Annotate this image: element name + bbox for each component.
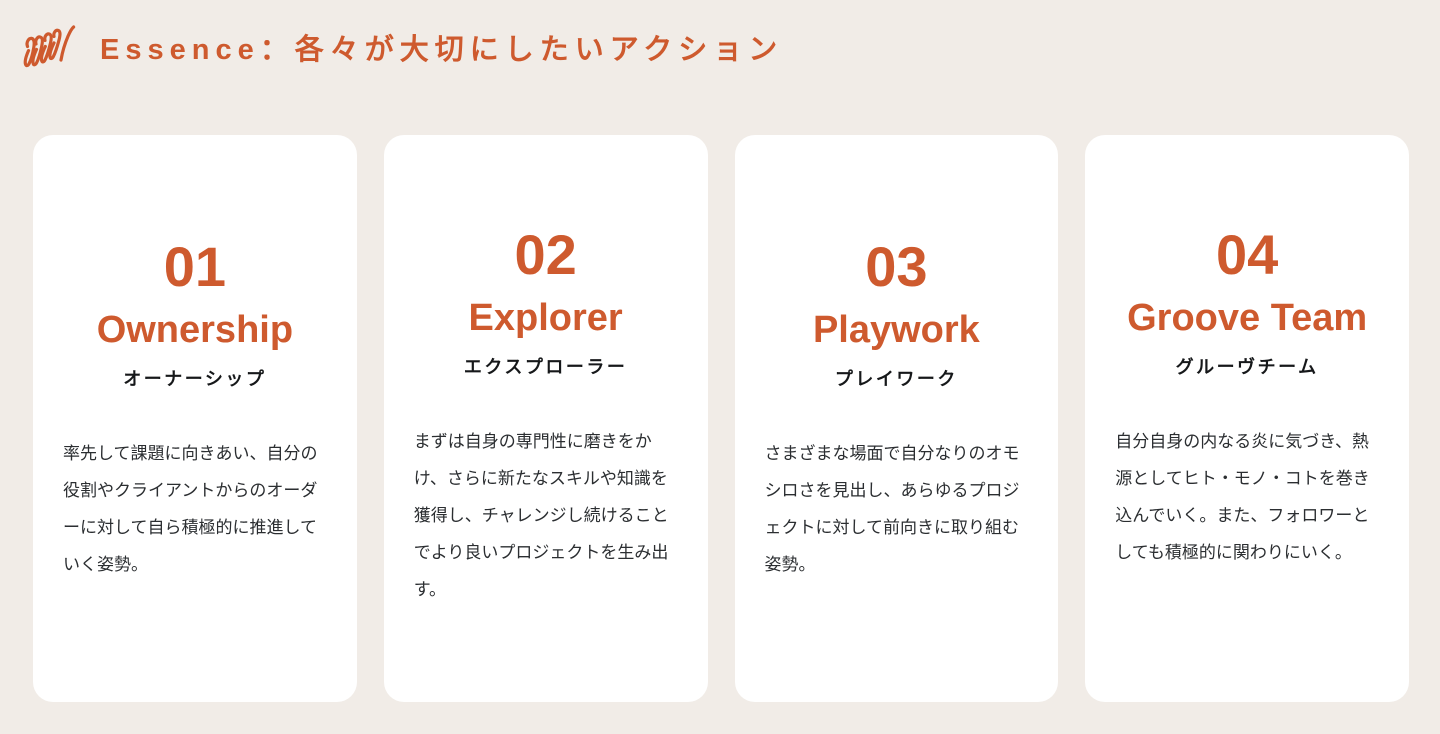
value-card-ownership[interactable]: 01 Ownership オーナーシップ 率先して課題に向きあい、自分の役割やク…	[33, 135, 357, 702]
card-body-text: 率先して課題に向きあい、自分の役割やクライアントからのオーダーに対して自ら積極的…	[61, 435, 329, 583]
essence-values-page: Essence：各々が大切にしたいアクション 01 Ownership オーナー…	[0, 0, 1440, 734]
value-card-explorer[interactable]: 02 Explorer エクスプローラー まずは自身の専門性に磨きをかけ、さらに…	[384, 135, 708, 702]
card-subtitle: グルーヴチーム	[1176, 353, 1319, 379]
value-card-playwork[interactable]: 03 Playwork プレイワーク さまざまな場面で自分なりのオモシロさを見出…	[735, 135, 1059, 702]
card-subtitle: オーナーシップ	[123, 365, 266, 391]
page-header: Essence：各々が大切にしたいアクション	[20, 18, 783, 82]
card-subtitle: エクスプローラー	[464, 353, 627, 379]
value-card-list: 01 Ownership オーナーシップ 率先して課題に向きあい、自分の役割やク…	[33, 135, 1409, 702]
card-number: 04	[1216, 227, 1278, 283]
card-title: Ownership	[97, 309, 293, 353]
card-title: Playwork	[813, 309, 980, 353]
card-content: 01 Ownership オーナーシップ 率先して課題に向きあい、自分の役割やク…	[33, 135, 357, 702]
page-title: Essence：各々が大切にしたいアクション	[100, 36, 783, 65]
card-title: Groove Team	[1127, 297, 1367, 341]
card-body-text: さまざまな場面で自分なりのオモシロさを見出し、あらゆるプロジェクトに対して前向き…	[763, 435, 1031, 583]
card-number: 03	[865, 239, 927, 295]
value-card-groove-team[interactable]: 04 Groove Team グルーヴチーム 自分自身の内なる炎に気づき、熱源と…	[1085, 135, 1409, 702]
scribble-icon	[20, 22, 80, 78]
card-number: 02	[514, 227, 576, 283]
card-body-text: 自分自身の内なる炎に気づき、熱源としてヒト・モノ・コトを巻き込んでいく。また、フ…	[1113, 423, 1381, 571]
card-content: 02 Explorer エクスプローラー まずは自身の専門性に磨きをかけ、さらに…	[384, 135, 708, 702]
card-subtitle: プレイワーク	[835, 365, 958, 391]
card-body-text: まずは自身の専門性に磨きをかけ、さらに新たなスキルや知識を獲得し、チャレンジし続…	[412, 423, 680, 608]
card-content: 04 Groove Team グルーヴチーム 自分自身の内なる炎に気づき、熱源と…	[1085, 135, 1409, 702]
card-title: Explorer	[469, 297, 623, 341]
card-content: 03 Playwork プレイワーク さまざまな場面で自分なりのオモシロさを見出…	[735, 135, 1059, 702]
card-number: 01	[164, 239, 226, 295]
